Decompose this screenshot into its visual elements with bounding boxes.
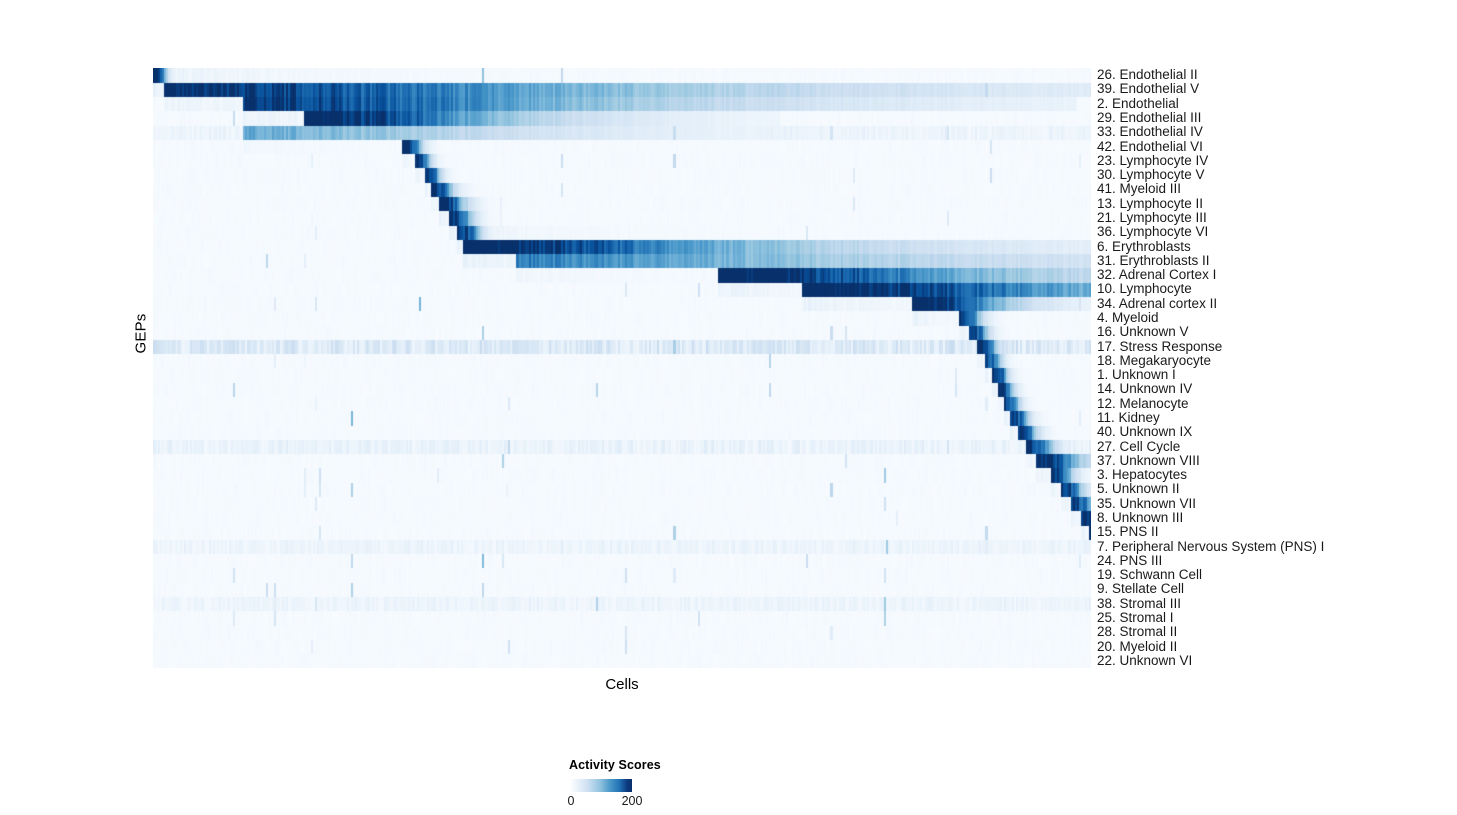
row-label: 36. Lymphocyte VI [1097, 225, 1208, 239]
colorbar-gradient [570, 779, 632, 792]
row-label-list: 26. Endothelial II39. Endothelial V2. En… [1097, 68, 1447, 668]
row-label: 28. Stromal II [1097, 625, 1177, 639]
row-label: 19. Schwann Cell [1097, 568, 1202, 582]
row-label: 11. Kidney [1097, 411, 1160, 425]
row-label: 25. Stromal I [1097, 611, 1174, 625]
colorbar-title: Activity Scores [569, 758, 755, 772]
row-label: 21. Lymphocyte III [1097, 211, 1207, 225]
row-label: 4. Myeloid [1097, 311, 1159, 325]
row-label: 12. Melanocyte [1097, 397, 1189, 411]
row-label: 8. Unknown III [1097, 511, 1183, 525]
row-label: 37. Unknown VIII [1097, 454, 1200, 468]
x-axis-title: Cells [153, 676, 1091, 693]
row-label: 20. Myeloid II [1097, 640, 1177, 654]
row-label: 26. Endothelial II [1097, 68, 1198, 82]
row-label: 27. Cell Cycle [1097, 440, 1180, 454]
row-label: 1. Unknown I [1097, 368, 1176, 382]
row-label: 17. Stress Response [1097, 340, 1222, 354]
row-label: 23. Lymphocyte IV [1097, 154, 1208, 168]
row-label: 7. Peripheral Nervous System (PNS) I [1097, 540, 1324, 554]
row-label: 2. Endothelial [1097, 97, 1179, 111]
row-label: 13. Lymphocyte II [1097, 197, 1203, 211]
row-label: 3. Hepatocytes [1097, 468, 1187, 482]
row-label: 42. Endothelial VI [1097, 140, 1203, 154]
row-label: 5. Unknown II [1097, 482, 1180, 496]
colorbar-legend: Activity Scores 0200 [555, 758, 755, 776]
row-label: 16. Unknown V [1097, 325, 1189, 339]
colorbar-tick-label: 200 [622, 794, 643, 808]
row-label: 14. Unknown IV [1097, 382, 1192, 396]
row-label: 32. Adrenal Cortex I [1097, 268, 1216, 282]
row-label: 30. Lymphocyte V [1097, 168, 1205, 182]
colorbar-tick-label: 0 [568, 794, 575, 808]
row-label: 41. Myeloid III [1097, 182, 1181, 196]
heatmap-canvas[interactable] [153, 68, 1091, 668]
row-label: 15. PNS II [1097, 525, 1159, 539]
row-label: 39. Endothelial V [1097, 82, 1199, 96]
row-label: 34. Adrenal cortex II [1097, 297, 1217, 311]
row-label: 9. Stellate Cell [1097, 582, 1184, 596]
row-label: 24. PNS III [1097, 554, 1162, 568]
row-label: 35. Unknown VII [1097, 497, 1196, 511]
heatmap-plot-area[interactable] [153, 68, 1091, 668]
heatmap-figure: GEPs Cells 26. Endothelial II39. Endothe… [0, 0, 1457, 815]
row-label: 22. Unknown VI [1097, 654, 1192, 668]
row-label: 31. Erythroblasts II [1097, 254, 1210, 268]
row-label: 18. Megakaryocyte [1097, 354, 1211, 368]
y-axis-title: GEPs [133, 324, 150, 354]
row-label: 6. Erythroblasts [1097, 240, 1191, 254]
row-label: 33. Endothelial IV [1097, 125, 1203, 139]
row-label: 38. Stromal III [1097, 597, 1181, 611]
row-label: 10. Lymphocyte [1097, 282, 1192, 296]
row-label: 29. Endothelial III [1097, 111, 1201, 125]
row-label: 40. Unknown IX [1097, 425, 1192, 439]
colorbar-tick [632, 779, 633, 792]
